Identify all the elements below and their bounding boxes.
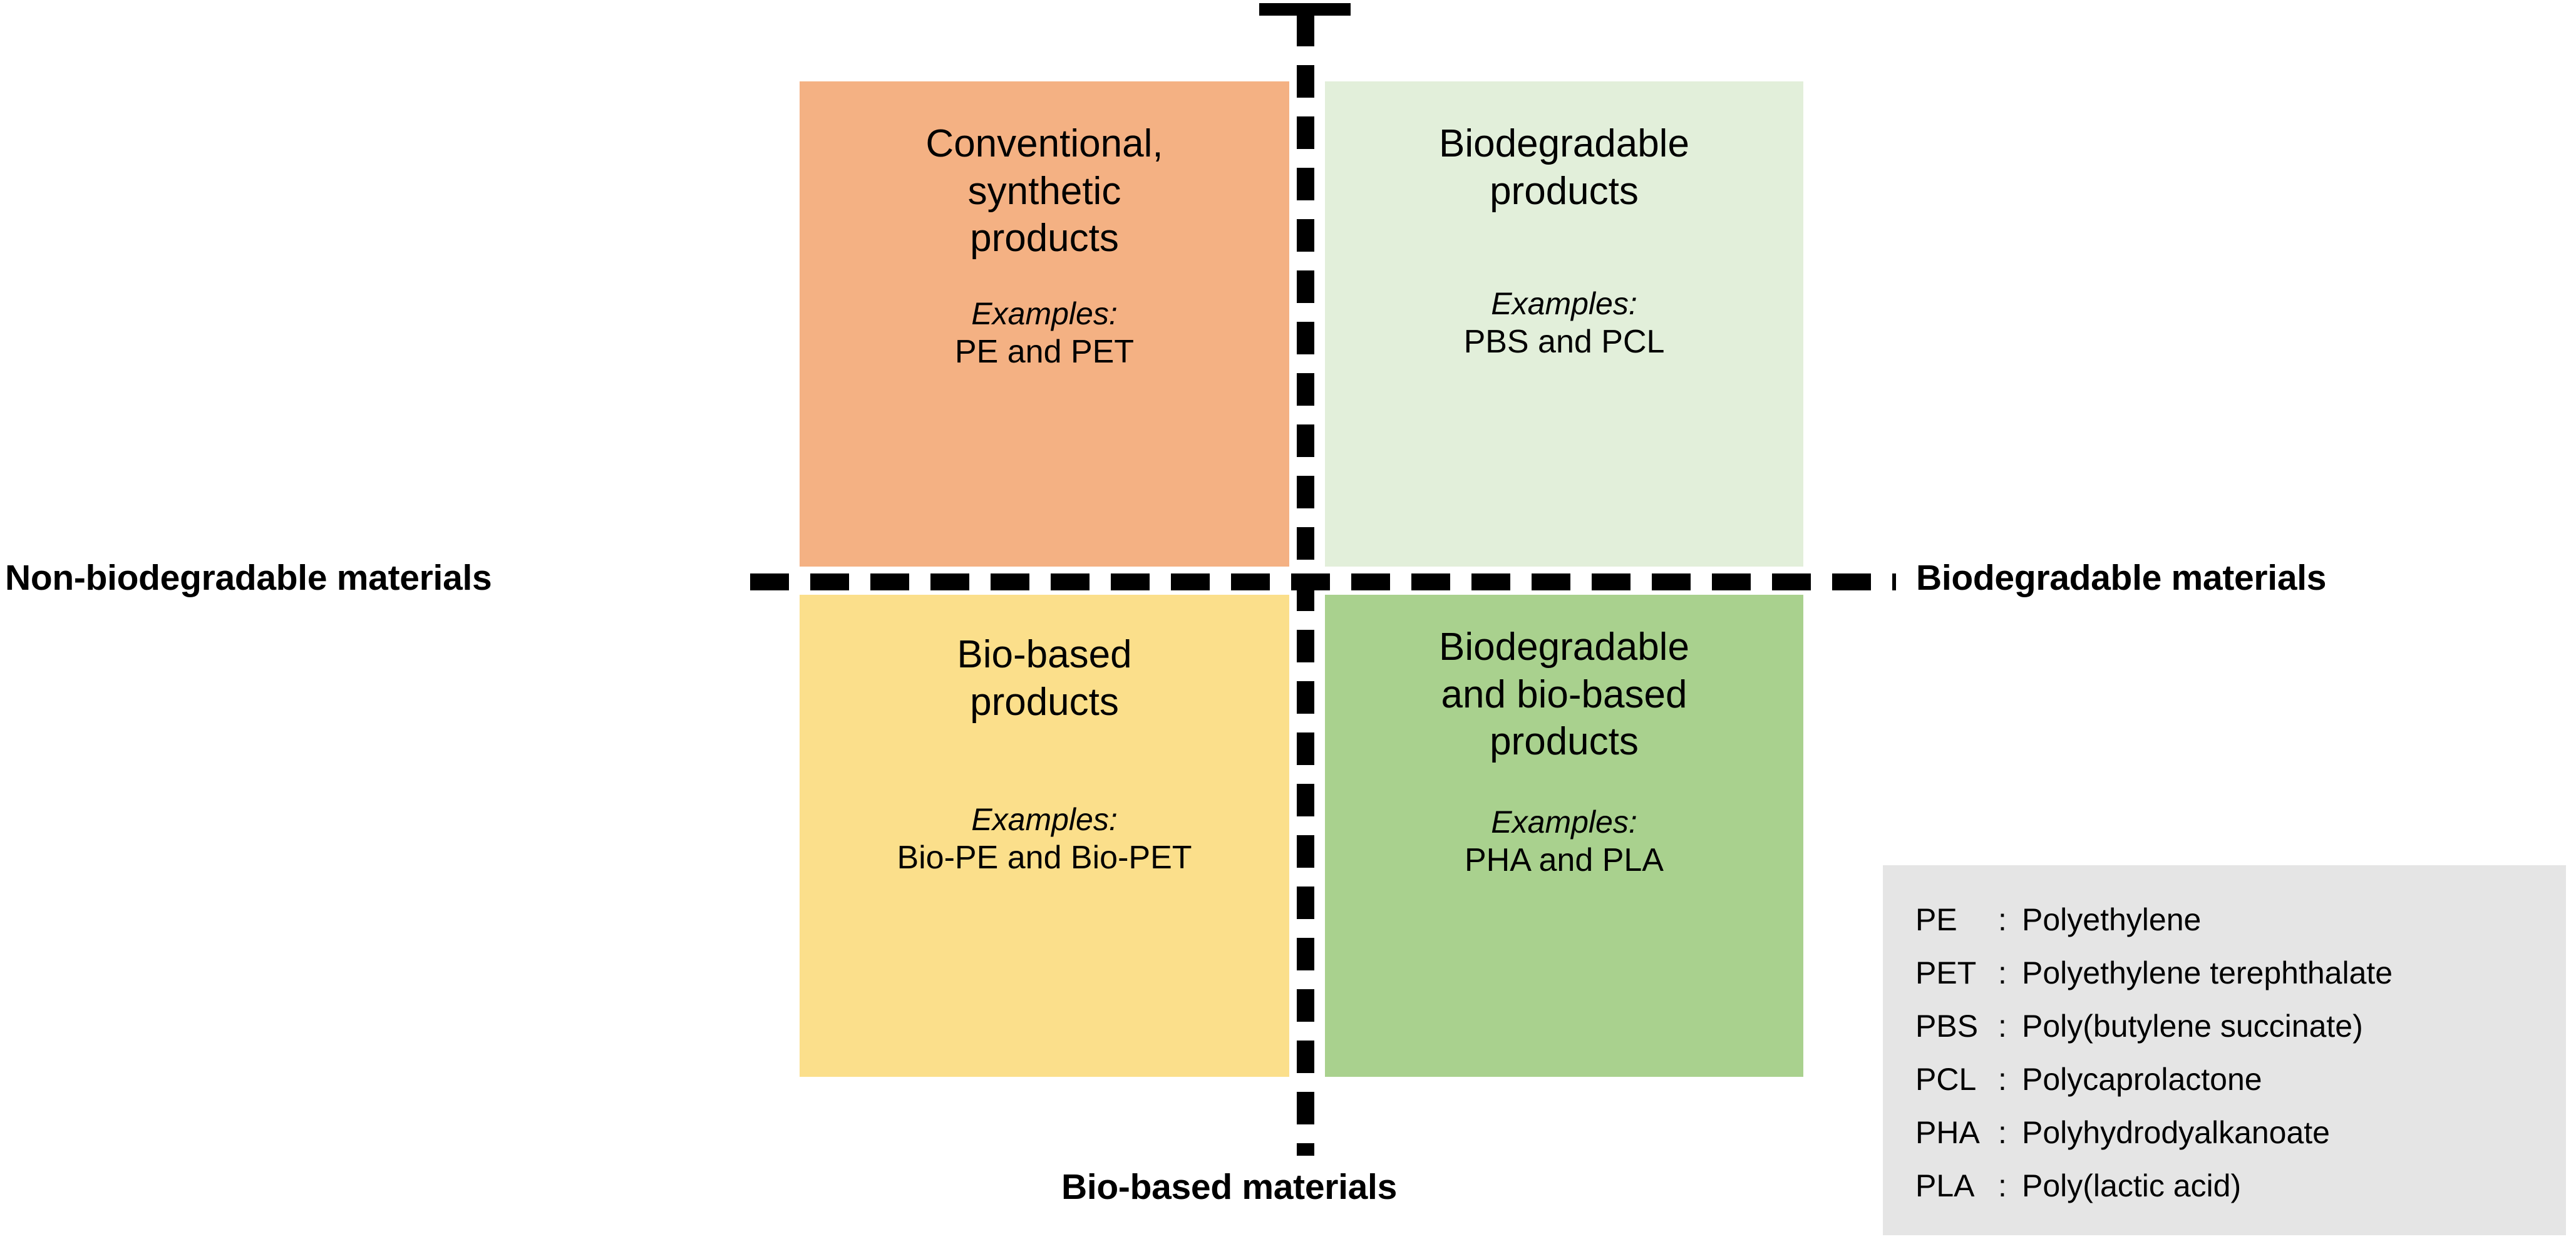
quadrant-biodegradable-and-bio-based: Biodegradable and bio-based products Exa… (1325, 595, 1803, 1077)
legend-abbr: PHA (1915, 1117, 1998, 1148)
legend-separator: : (1998, 1010, 2022, 1042)
legend-full-name: Polyethylene terephthalate (2022, 957, 2393, 989)
quadrant-conventional-synthetic: Conventional, synthetic products Example… (800, 81, 1289, 567)
axis-label-non-biodegradable: Non-biodegradable materials (5, 557, 492, 599)
legend-full-name: Poly(lactic acid) (2022, 1170, 2241, 1201)
quadrant-title: Biodegradable products (1439, 120, 1689, 215)
quadrant-examples-label: Examples: (1491, 803, 1637, 841)
legend-full-name: Polycaprolactone (2022, 1064, 2262, 1095)
quadrant-examples-label: Examples: (1491, 285, 1637, 322)
quadrant-examples-value: Bio-PE and Bio-PET (897, 838, 1192, 877)
legend-full-name: Poly(butylene succinate) (2022, 1010, 2363, 1042)
legend-row: PET : Polyethylene terephthalate (1915, 957, 2566, 989)
legend-row: PE : Polyethylene (1915, 904, 2566, 935)
legend-abbr: PE (1915, 904, 1998, 935)
legend-abbr: PET (1915, 957, 1998, 989)
legend-full-name: Polyethylene (2022, 904, 2201, 935)
legend-row: PBS : Poly(butylene succinate) (1915, 1010, 2566, 1042)
quadrant-title: Biodegradable and bio-based products (1439, 624, 1689, 766)
quadrant-examples-label: Examples: (971, 801, 1117, 838)
legend-row: PLA : Poly(lactic acid) (1915, 1170, 2566, 1201)
quadrant-diagram-canvas: Conventional, synthetic products Example… (0, 0, 2576, 1249)
quadrant-title: Conventional, synthetic products (925, 120, 1163, 262)
quadrant-biodegradable: Biodegradable products Examples: PBS and… (1325, 81, 1803, 567)
legend-separator: : (1998, 1064, 2022, 1095)
legend-full-name: Polyhydrodyalkanoate (2022, 1117, 2330, 1148)
quadrant-bio-based: Bio-based products Examples: Bio-PE and … (800, 595, 1289, 1077)
legend-separator: : (1998, 1170, 2022, 1201)
axis-label-bio-based: Bio-based materials (1061, 1166, 1397, 1208)
legend-row: PCL : Polycaprolactone (1915, 1064, 2566, 1095)
legend-separator: : (1998, 904, 2022, 935)
axis-label-biodegradable: Biodegradable materials (1916, 557, 2326, 599)
legend-abbr: PCL (1915, 1064, 1998, 1095)
quadrant-examples-value: PE and PET (955, 332, 1134, 371)
legend-row: PHA : Polyhydrodyalkanoate (1915, 1117, 2566, 1148)
legend-separator: : (1998, 957, 2022, 989)
legend-abbr: PBS (1915, 1010, 1998, 1042)
legend-separator: : (1998, 1117, 2022, 1148)
quadrant-examples-label: Examples: (971, 295, 1117, 332)
legend-abbr: PLA (1915, 1170, 1998, 1201)
abbreviations-legend: PE : Polyethylene PET : Polyethylene ter… (1883, 865, 2566, 1235)
quadrant-examples-value: PBS and PCL (1464, 322, 1665, 361)
quadrant-title: Bio-based products (957, 631, 1131, 726)
quadrant-examples-value: PHA and PLA (1465, 841, 1664, 880)
horizontal-axis-dashed-line (750, 573, 1896, 590)
